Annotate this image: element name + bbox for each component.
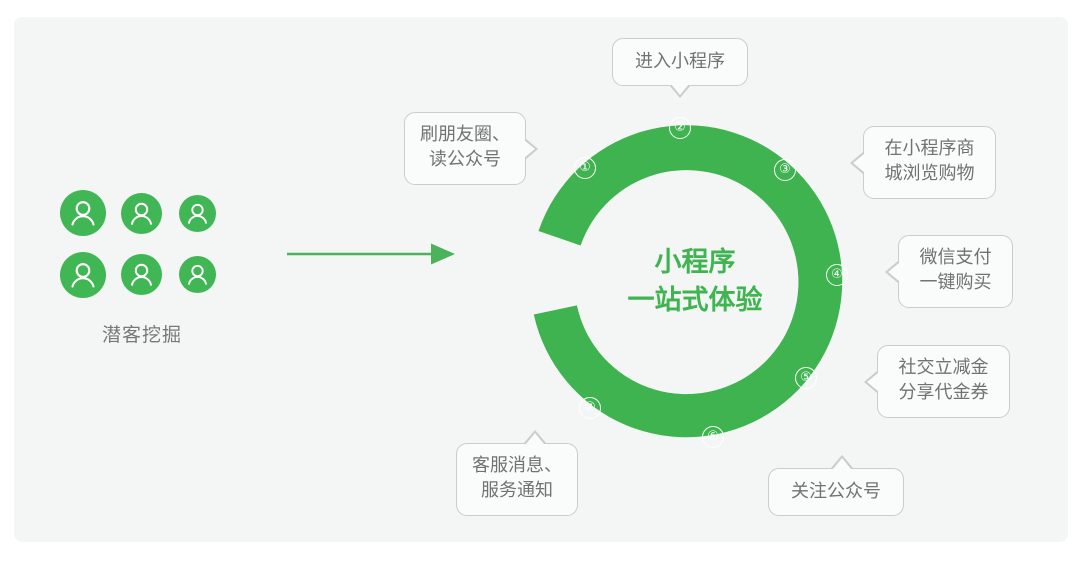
callout-top-line-1: 进入小程序 [627,48,733,75]
callout-right-low: 社交立减金 分享代金券 [877,345,1010,418]
person-icon [121,254,162,295]
ring-marker-7: ⑦ [579,397,601,419]
callout-bottom-left-line-1: 客服消息、 [471,453,563,478]
ring-marker-4: ④ [826,264,848,286]
ring-marker-3: ③ [774,159,796,181]
callout-right-mid-line-1: 微信支付 [913,245,998,270]
person-icon [60,252,106,298]
callout-tail-right-fill [524,140,535,158]
callout-right-low-line-1: 社交立减金 [892,355,995,380]
diagram-canvas: 潜客挖掘 ① ② ③ ④ ⑤ ⑥ ⑦ 小程序 一站式体验 进入小程序 刷朋友圈、 [0,0,1080,562]
callout-left-top: 刷朋友圈、 读公众号 [404,112,526,185]
person-icon [179,256,216,293]
right-arrow-icon [285,238,460,270]
callout-right-mid-line-2: 一键购买 [913,270,998,295]
callout-left-top-line-2: 读公众号 [419,147,511,172]
potential-customers-group [52,190,232,305]
callout-right-top-line-2: 城浏览购物 [878,161,981,186]
callout-tail-up-fill [833,458,851,469]
ring-center-title-line1: 小程序 [570,243,820,281]
ring-marker-1: ① [574,157,596,179]
callout-bottom-left: 客服消息、 服务通知 [456,443,578,516]
callout-tail-down-fill [671,84,689,95]
callout-tail-left-fill [888,263,899,281]
ring-center-title: 小程序 一站式体验 [570,243,820,319]
callout-tail-left-fill [867,373,878,391]
callout-right-mid: 微信支付 一键购买 [898,235,1013,308]
potential-customers-label: 潜客挖掘 [52,320,232,347]
person-icon [60,190,106,236]
callout-tail-left-fill [853,154,864,172]
person-icon [121,193,162,234]
ring-center-title-line2: 一站式体验 [570,281,820,319]
callout-right-low-line-2: 分享代金券 [892,380,995,405]
callout-bottom-right: 关注公众号 [768,468,904,516]
callout-right-top: 在小程序商 城浏览购物 [863,126,996,199]
ring-marker-6: ⑥ [702,426,724,448]
ring-marker-5: ⑤ [795,367,817,389]
callout-bottom-left-line-2: 服务通知 [471,478,563,503]
callout-right-top-line-1: 在小程序商 [878,136,981,161]
person-icon [179,195,216,232]
ring-marker-2: ② [669,117,691,139]
callout-bottom-right-line-1: 关注公众号 [783,478,889,505]
callout-tail-up-fill [526,433,544,444]
callout-top: 进入小程序 [612,38,748,86]
callout-left-top-line-1: 刷朋友圈、 [419,122,511,147]
